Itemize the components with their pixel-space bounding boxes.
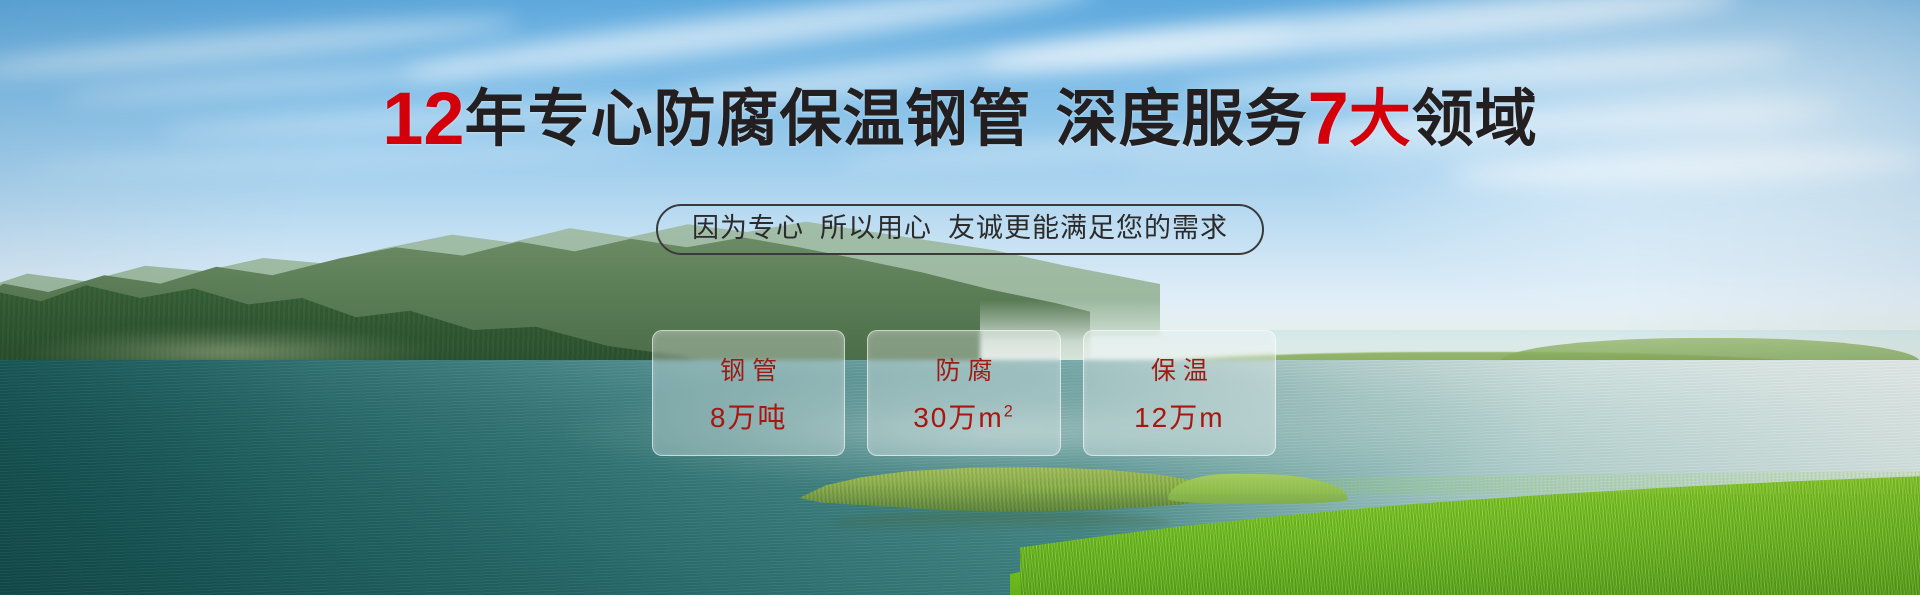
subtitle-pill: 因为专心所以用心友诚更能满足您的需求 bbox=[656, 204, 1264, 255]
stat-card-value: 12万m bbox=[1134, 396, 1224, 436]
stat-card-title: 保温 bbox=[1144, 351, 1215, 387]
hero-banner: 12年专心防腐保温钢管深度服务7大领域 因为专心所以用心友诚更能满足您的需求 钢… bbox=[0, 0, 1920, 595]
subtitle-segment-one: 因为专心 bbox=[692, 213, 804, 243]
subtitle-segment-two: 所以用心 bbox=[820, 213, 932, 243]
stat-value-text: 12万m bbox=[1134, 402, 1224, 433]
headline-years-number: 12 bbox=[382, 77, 464, 160]
stat-value-superscript: 2 bbox=[1004, 402, 1015, 420]
stats-card-group: 钢管 8万吨 防腐 30万m2 保温 12万m bbox=[652, 330, 1276, 456]
headline-fields-number: 7 bbox=[1308, 77, 1349, 160]
headline-part-three: 大 bbox=[1349, 85, 1412, 154]
stat-value-text: 8万吨 bbox=[710, 402, 788, 433]
headline-part-one: 年专心防腐保温钢管 bbox=[465, 85, 1032, 154]
stat-card-anticorrosion[interactable]: 防腐 30万m2 bbox=[867, 330, 1060, 456]
stat-card-value: 30万m2 bbox=[913, 396, 1015, 436]
subtitle-container: 因为专心所以用心友诚更能满足您的需求 bbox=[0, 204, 1920, 255]
headline-part-two: 深度服务 bbox=[1056, 85, 1308, 154]
stat-card-title: 防腐 bbox=[928, 351, 999, 387]
stat-card-steel-pipe[interactable]: 钢管 8万吨 bbox=[652, 330, 845, 456]
stat-value-text: 30万m bbox=[913, 402, 1003, 433]
stat-card-title: 钢管 bbox=[713, 351, 784, 387]
stat-card-insulation[interactable]: 保温 12万m bbox=[1083, 330, 1276, 456]
headline-part-four: 领域 bbox=[1412, 85, 1538, 154]
banner-content: 12年专心防腐保温钢管深度服务7大领域 因为专心所以用心友诚更能满足您的需求 钢… bbox=[0, 0, 1920, 595]
stat-card-value: 8万吨 bbox=[710, 396, 788, 436]
headline: 12年专心防腐保温钢管深度服务7大领域 bbox=[0, 82, 1920, 156]
subtitle-segment-three: 友诚更能满足您的需求 bbox=[948, 213, 1228, 243]
